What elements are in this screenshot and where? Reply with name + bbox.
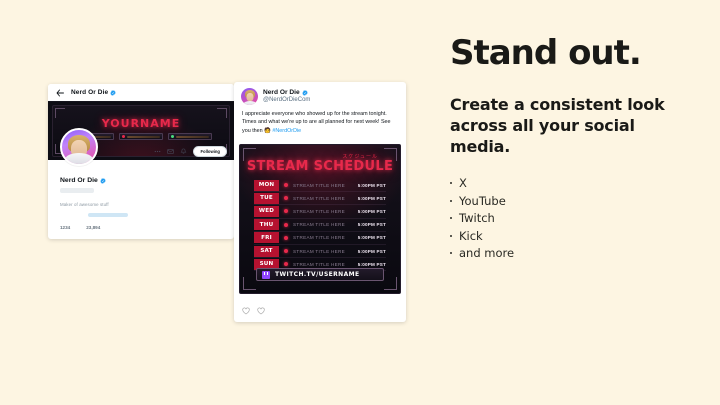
schedule-corner-br: [384, 277, 397, 290]
post-header: Nerd Or Die @NerdOrDieCom: [234, 82, 406, 105]
back-arrow-icon[interactable]: [56, 89, 64, 97]
banner-badge-dot: [171, 135, 174, 138]
social-post-card: Nerd Or Die @NerdOrDieCom I appreciate e…: [234, 82, 406, 322]
schedule-row: FRI STREAM TITLE HERE 5:00PM PST: [254, 232, 386, 245]
schedule-row: WED STREAM TITLE HERE 5:00PM PST: [254, 205, 386, 218]
post-avatar[interactable]: [241, 88, 258, 105]
banner-badge: [168, 133, 212, 140]
profile-stat-following[interactable]: 1234: [60, 225, 70, 230]
post-author-handle[interactable]: @NerdOrDieCom: [263, 97, 310, 103]
profile-display-name: Nerd Or Die: [60, 177, 224, 184]
schedule-day: MON: [254, 180, 279, 191]
schedule-stream-title: STREAM TITLE HERE: [293, 262, 346, 267]
list-item: X: [450, 175, 690, 192]
subheading: Create a consistent look across all your…: [450, 94, 690, 157]
list-item-label: Kick: [459, 228, 483, 245]
list-item: Twitch: [450, 210, 690, 227]
slide-canvas: Nerd Or Die YOURNAME: [0, 0, 720, 405]
list-item-label: YouTube: [459, 193, 506, 210]
post-author-name-text: Nerd Or Die: [263, 89, 300, 96]
bullet-dot-icon: [450, 200, 452, 202]
profile-link-placeholder: [88, 213, 128, 217]
schedule-row: THU STREAM TITLE HERE 5:00PM PST: [254, 219, 386, 232]
x-topbar-title: Nerd Or Die: [71, 89, 116, 96]
list-item-label: and more: [459, 245, 514, 262]
profile-stats: 1234 23,894: [60, 225, 224, 230]
schedule-time: 5:00PM PST: [346, 196, 386, 201]
schedule-bullet-icon: [284, 183, 288, 187]
post-emoji: 🧑: [264, 128, 271, 134]
banner-badge-bar: [127, 136, 160, 138]
schedule-rows: MON STREAM TITLE HERE 5:00PM PST TUE STR…: [254, 179, 386, 271]
x-profile-actions: Following: [154, 146, 227, 157]
avatar-body: [243, 101, 256, 105]
more-options-icon[interactable]: [154, 148, 161, 155]
schedule-time: 5:00PM PST: [346, 262, 386, 267]
list-item: and more: [450, 245, 690, 262]
profile-handle-placeholder: [60, 188, 94, 193]
banner-badge: [119, 133, 163, 140]
comment-heart-icon[interactable]: [257, 307, 265, 315]
schedule-day: SAT: [254, 246, 279, 257]
verified-badge-icon: [110, 90, 116, 96]
schedule-bullet-icon: [284, 236, 288, 240]
schedule-row: SAT STREAM TITLE HERE 5:00PM PST: [254, 245, 386, 258]
schedule-footer: TWITCH.TV/USERNAME: [256, 268, 384, 281]
schedule-day: FRI: [254, 232, 279, 243]
schedule-row: TUE STREAM TITLE HERE 5:00PM PST: [254, 192, 386, 205]
schedule-time: 5:00PM PST: [346, 249, 386, 254]
notify-bell-icon[interactable]: [180, 148, 187, 155]
avatar-body: [65, 153, 93, 166]
list-item-label: X: [459, 175, 467, 192]
schedule-stream-title: STREAM TITLE HERE: [293, 183, 346, 188]
x-profile-topbar: Nerd Or Die: [48, 84, 234, 101]
bullet-dot-icon: [450, 182, 452, 184]
schedule-stream-title: STREAM TITLE HERE: [293, 249, 346, 254]
follow-button[interactable]: Following: [193, 146, 227, 157]
schedule-bullet-icon: [284, 249, 288, 253]
list-item-label: Twitch: [459, 210, 495, 227]
post-body-text: I appreciate everyone who showed up for …: [234, 105, 406, 135]
avatar[interactable]: [60, 128, 98, 166]
avatar-face: [246, 93, 253, 101]
list-item: YouTube: [450, 193, 690, 210]
bullet-dot-icon: [450, 217, 452, 219]
post-author-block: Nerd Or Die @NerdOrDieCom: [263, 88, 310, 103]
bullet-dot-icon: [450, 235, 452, 237]
post-hashtag[interactable]: #NerdOrDie: [272, 128, 301, 134]
schedule-day: WED: [254, 206, 279, 217]
schedule-time: 5:00PM PST: [346, 235, 386, 240]
profile-bio: Maker of awesome stuff: [60, 202, 224, 207]
verified-badge-icon: [100, 178, 106, 184]
page-title: Stand out.: [450, 36, 690, 70]
schedule-time: 5:00PM PST: [346, 209, 386, 214]
post-author-name: Nerd Or Die: [263, 89, 310, 96]
marketing-copy-panel: Stand out. Create a consistent look acro…: [450, 36, 690, 263]
x-topbar-title-text: Nerd Or Die: [71, 89, 108, 96]
x-profile-card: Nerd Or Die YOURNAME: [48, 84, 234, 239]
schedule-footer-url: TWITCH.TV/USERNAME: [275, 271, 360, 278]
profile-display-name-text: Nerd Or Die: [60, 177, 98, 184]
schedule-bullet-icon: [284, 262, 288, 266]
schedule-corner-bl: [243, 277, 256, 290]
post-action-bar: [242, 307, 265, 315]
stream-schedule-graphic: スケジュール STREAM SCHEDULE MON STREAM TITLE …: [239, 144, 401, 294]
schedule-stream-title: STREAM TITLE HERE: [293, 209, 346, 214]
bullet-dot-icon: [450, 252, 452, 254]
like-heart-icon[interactable]: [242, 307, 250, 315]
banner-badge-bar: [176, 136, 209, 138]
schedule-row: MON STREAM TITLE HERE 5:00PM PST: [254, 179, 386, 192]
schedule-time: 5:00PM PST: [346, 222, 386, 227]
banner-badge-dot: [122, 135, 125, 138]
schedule-bullet-icon: [284, 223, 288, 227]
schedule-time: 5:00PM PST: [346, 183, 386, 188]
platform-list: X YouTube Twitch Kick and more: [450, 175, 690, 262]
twitch-glitch-icon: [262, 271, 270, 279]
schedule-bullet-icon: [284, 209, 288, 213]
schedule-stream-title: STREAM TITLE HERE: [293, 196, 346, 201]
x-profile-info: Nerd Or Die Maker of awesome stuff 1234 …: [60, 177, 224, 230]
schedule-stream-title: STREAM TITLE HERE: [293, 235, 346, 240]
schedule-day: TUE: [254, 193, 279, 204]
list-item: Kick: [450, 228, 690, 245]
schedule-bullet-icon: [284, 196, 288, 200]
schedule-title: STREAM SCHEDULE: [240, 159, 400, 174]
schedule-day: THU: [254, 219, 279, 230]
profile-stat-followers[interactable]: 23,894: [86, 225, 100, 230]
message-icon[interactable]: [167, 148, 174, 155]
verified-badge-icon: [302, 90, 308, 96]
schedule-stream-title: STREAM TITLE HERE: [293, 222, 346, 227]
